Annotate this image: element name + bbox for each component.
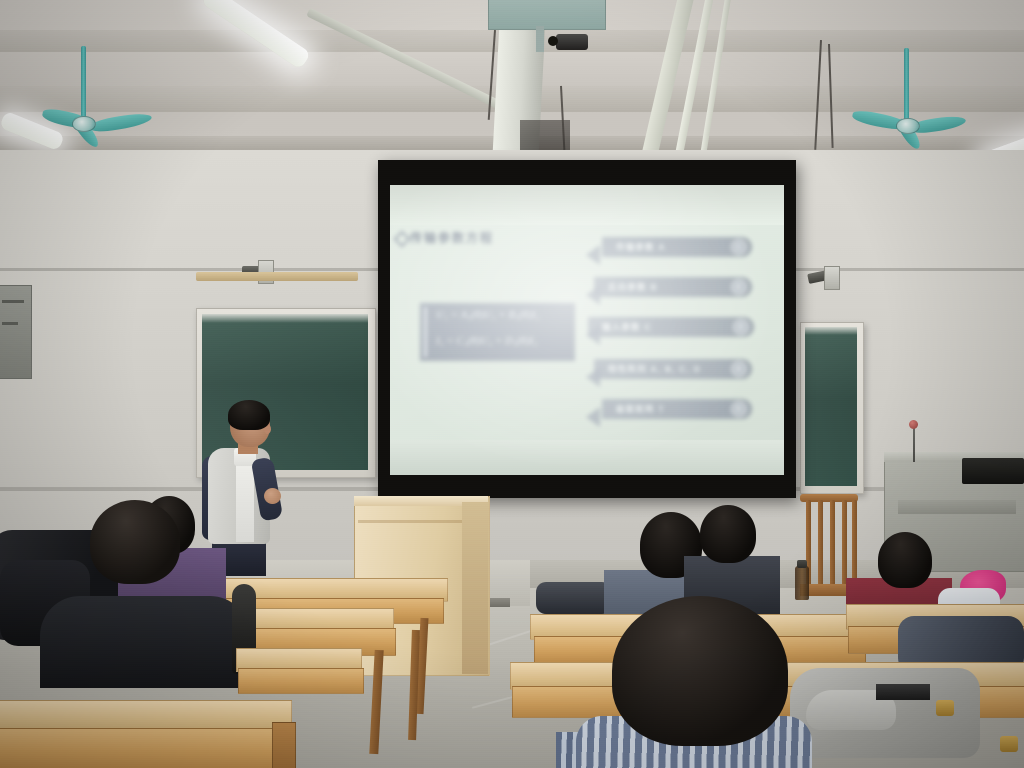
projector-lens <box>548 36 558 46</box>
ceiling-fan-rod <box>904 48 909 124</box>
student-head <box>878 532 932 588</box>
projected-slide: 传输参数方程 U₁ = A₁(θ)U₂ + B₁(θ)I₂ I₁ = C₁(θ)… <box>390 185 784 475</box>
chalkboard-left-surface <box>202 314 368 470</box>
slide-list-item-label: 特性阵列 A, B, C, D <box>608 363 701 375</box>
wall-speaker <box>824 266 840 290</box>
desk-leg <box>272 722 296 768</box>
ceiling-duct-shadow <box>520 120 570 154</box>
slide-equation-line: I₁ = C₁(θ)U₂ + D₁(θ)I₂ <box>436 335 537 347</box>
teaching-console-panel <box>898 500 1016 514</box>
slide-list-item-number: 4 <box>731 361 747 377</box>
slide-list-item: 特性阵列 A, B, C, D 4 <box>594 359 752 379</box>
console-monitor <box>962 458 1024 484</box>
slide-chevron-icon <box>586 407 600 427</box>
slide-list-item-label: 级联矩阵 T <box>616 403 665 415</box>
slide-list-item: 输入参数 C 3 <box>588 317 754 337</box>
chalkboard-right-surface <box>805 327 857 486</box>
wall-plaque-text-line <box>2 322 18 325</box>
presenter-shirt <box>236 460 254 542</box>
slide-list-item: 级联矩阵 T 5 <box>602 399 752 419</box>
water-bottle <box>795 566 809 600</box>
slide-title-bullet-icon <box>394 231 411 248</box>
slide-list-item-label: 传输参数 A <box>616 241 666 253</box>
slide-list-item-number: 5 <box>731 401 747 417</box>
chair-slat <box>830 500 835 596</box>
slide-list-item-number: 1 <box>731 239 747 255</box>
student-head <box>612 596 788 746</box>
projector-mount-stem <box>536 26 544 52</box>
slide-list-item-label: 输入参数 C <box>602 321 652 333</box>
classroom-photo: 传输参数方程 U₁ = A₁(θ)U₂ + B₁(θ)I₂ I₁ = C₁(θ)… <box>0 0 1024 768</box>
slide-list-item-number: 2 <box>731 279 747 295</box>
water-bottle-cap <box>797 560 807 568</box>
projector <box>556 34 588 50</box>
slide-equation-brace <box>424 307 427 357</box>
student-head <box>90 500 180 584</box>
slide-list-item: 传输参数 A 1 <box>602 237 752 257</box>
wall-plaque-text-line <box>2 300 24 303</box>
student-head <box>700 505 756 563</box>
chair-slat <box>818 500 823 594</box>
projector-mount-plate <box>488 0 606 30</box>
ceiling-fan-hub <box>896 118 920 134</box>
bench-desk-front <box>0 728 286 768</box>
slide-list-item: 反向参数 B 2 <box>594 277 752 297</box>
presenter-hair <box>228 400 270 430</box>
slide-chevron-icon <box>586 245 600 265</box>
microphone-stem <box>913 424 915 462</box>
slide-equation-line: U₁ = A₁(θ)U₂ + B₁(θ)I₂ <box>436 309 539 321</box>
bag-buckle <box>1000 736 1018 752</box>
bag-strap <box>876 684 930 700</box>
slide-title: 传输参数方程 <box>410 229 494 246</box>
slide-list-item-label: 反向参数 B <box>608 281 658 293</box>
chalk-dust <box>805 327 857 335</box>
student-body <box>40 596 250 688</box>
lectern-side-panel <box>462 502 488 674</box>
chalk-shelf <box>196 272 358 281</box>
presenter-hand <box>264 488 281 504</box>
bag-on-desk <box>536 582 612 614</box>
ceiling-fan-rod <box>81 46 86 118</box>
ceiling-fan-hub <box>72 116 96 132</box>
microphone-icon <box>909 420 918 429</box>
slide-list-item-number: 3 <box>733 319 749 335</box>
bag-buckle <box>936 700 954 716</box>
chalk-dust <box>202 314 368 323</box>
bench-desk-front <box>238 668 364 694</box>
